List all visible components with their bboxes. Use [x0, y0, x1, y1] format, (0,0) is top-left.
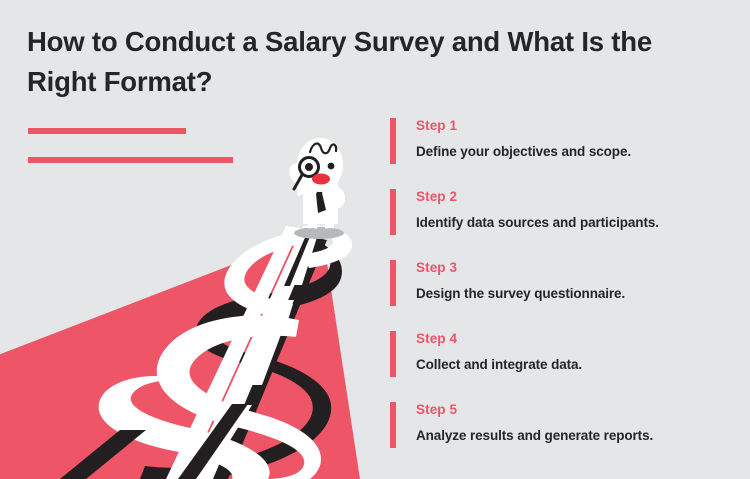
decorative-bar-1	[28, 128, 186, 134]
dollar-sign-shadow	[140, 232, 342, 479]
lane-markings	[186, 233, 318, 479]
step-marker-2	[390, 189, 396, 235]
lane-shadows	[60, 404, 248, 479]
step-label-5: Step 5	[416, 402, 740, 417]
step-item-5: Step 5 Analyze results and generate repo…	[390, 402, 740, 448]
step-label-3: Step 3	[416, 260, 740, 275]
steps-list: Step 1 Define your objectives and scope.…	[390, 115, 740, 473]
infographic-page: How to Conduct a Salary Survey and What …	[0, 0, 750, 479]
step-description-1: Define your objectives and scope.	[416, 144, 740, 160]
step-marker-5	[390, 402, 396, 448]
character-ground-shadow	[294, 227, 344, 239]
page-title: How to Conduct a Salary Survey and What …	[27, 22, 727, 102]
road-shape	[0, 230, 360, 479]
step-label-1: Step 1	[416, 118, 740, 133]
step-label-4: Step 4	[416, 331, 740, 346]
step-description-2: Identify data sources and participants.	[416, 215, 740, 231]
step-marker-3	[390, 260, 396, 306]
step-item-3: Step 3 Design the survey questionnaire.	[390, 260, 740, 306]
step-item-1: Step 1 Define your objectives and scope.	[390, 118, 740, 164]
step-marker-4	[390, 331, 396, 377]
researcher-character	[289, 138, 345, 234]
step-description-3: Design the survey questionnaire.	[416, 286, 740, 302]
step-item-4: Step 4 Collect and integrate data.	[390, 331, 740, 377]
dollar-sign	[99, 225, 353, 479]
decorative-bar-2	[28, 157, 233, 163]
step-marker-1	[390, 118, 396, 164]
step-description-4: Collect and integrate data.	[416, 357, 740, 373]
step-label-2: Step 2	[416, 189, 740, 204]
step-description-5: Analyze results and generate reports.	[416, 428, 740, 444]
step-item-2: Step 2 Identify data sources and partici…	[390, 189, 740, 235]
